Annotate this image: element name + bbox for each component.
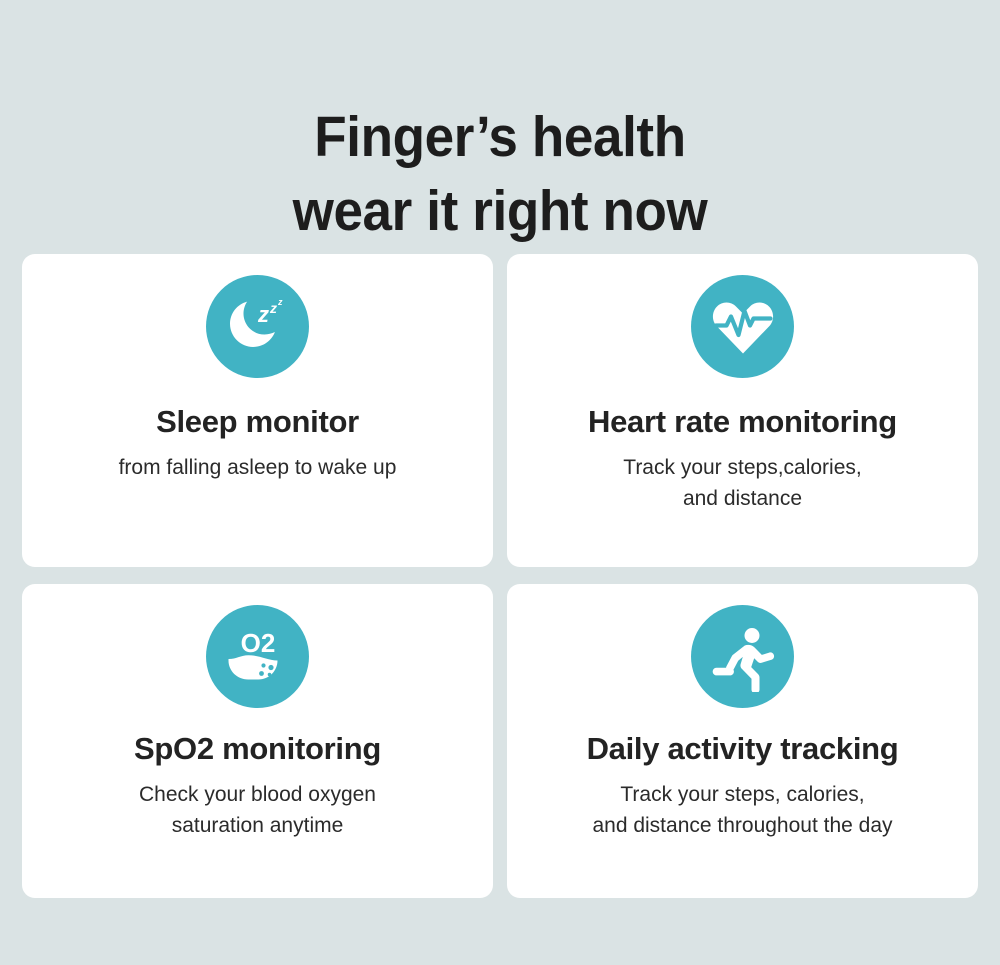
moon-zzz-icon: z z z: [206, 275, 309, 378]
running-person-icon: [691, 605, 794, 708]
page-title-line-1: Finger’s health: [35, 100, 965, 174]
feature-card-description: Check your blood oxygen saturation anyti…: [121, 779, 394, 841]
svg-text:O2: O2: [240, 628, 275, 658]
svg-text:z: z: [257, 302, 269, 327]
feature-card-heart-rate[interactable]: Heart rate monitoring Track your steps,c…: [507, 254, 978, 567]
svg-text:z: z: [277, 297, 283, 307]
feature-card-grid: z z z Sleep monitor from falling asleep …: [22, 254, 978, 898]
heart-pulse-icon: [691, 275, 794, 378]
feature-card-description: Track your steps, calories, and distance…: [574, 779, 910, 841]
feature-card-description: from falling asleep to wake up: [101, 452, 415, 483]
spo2-blood-drop-icon: O2: [206, 605, 309, 708]
page-title: Finger’s health wear it right now: [35, 100, 965, 248]
feature-card-title: SpO2 monitoring: [134, 730, 381, 768]
feature-card-sleep-monitor[interactable]: z z z Sleep monitor from falling asleep …: [22, 254, 493, 567]
feature-card-spo2[interactable]: O2 SpO2 monitoring Check your blood oxyg…: [22, 584, 493, 898]
feature-card-title: Heart rate monitoring: [588, 403, 897, 441]
feature-highlights-page: Finger’s health wear it right now z z z …: [0, 0, 1000, 965]
svg-text:z: z: [269, 300, 277, 316]
feature-card-title: Sleep monitor: [156, 403, 359, 441]
feature-card-title: Daily activity tracking: [587, 730, 899, 768]
page-title-line-2: wear it right now: [35, 174, 965, 248]
feature-card-description: Track your steps,calories, and distance: [605, 452, 879, 514]
feature-card-daily-activity[interactable]: Daily activity tracking Track your steps…: [507, 584, 978, 898]
